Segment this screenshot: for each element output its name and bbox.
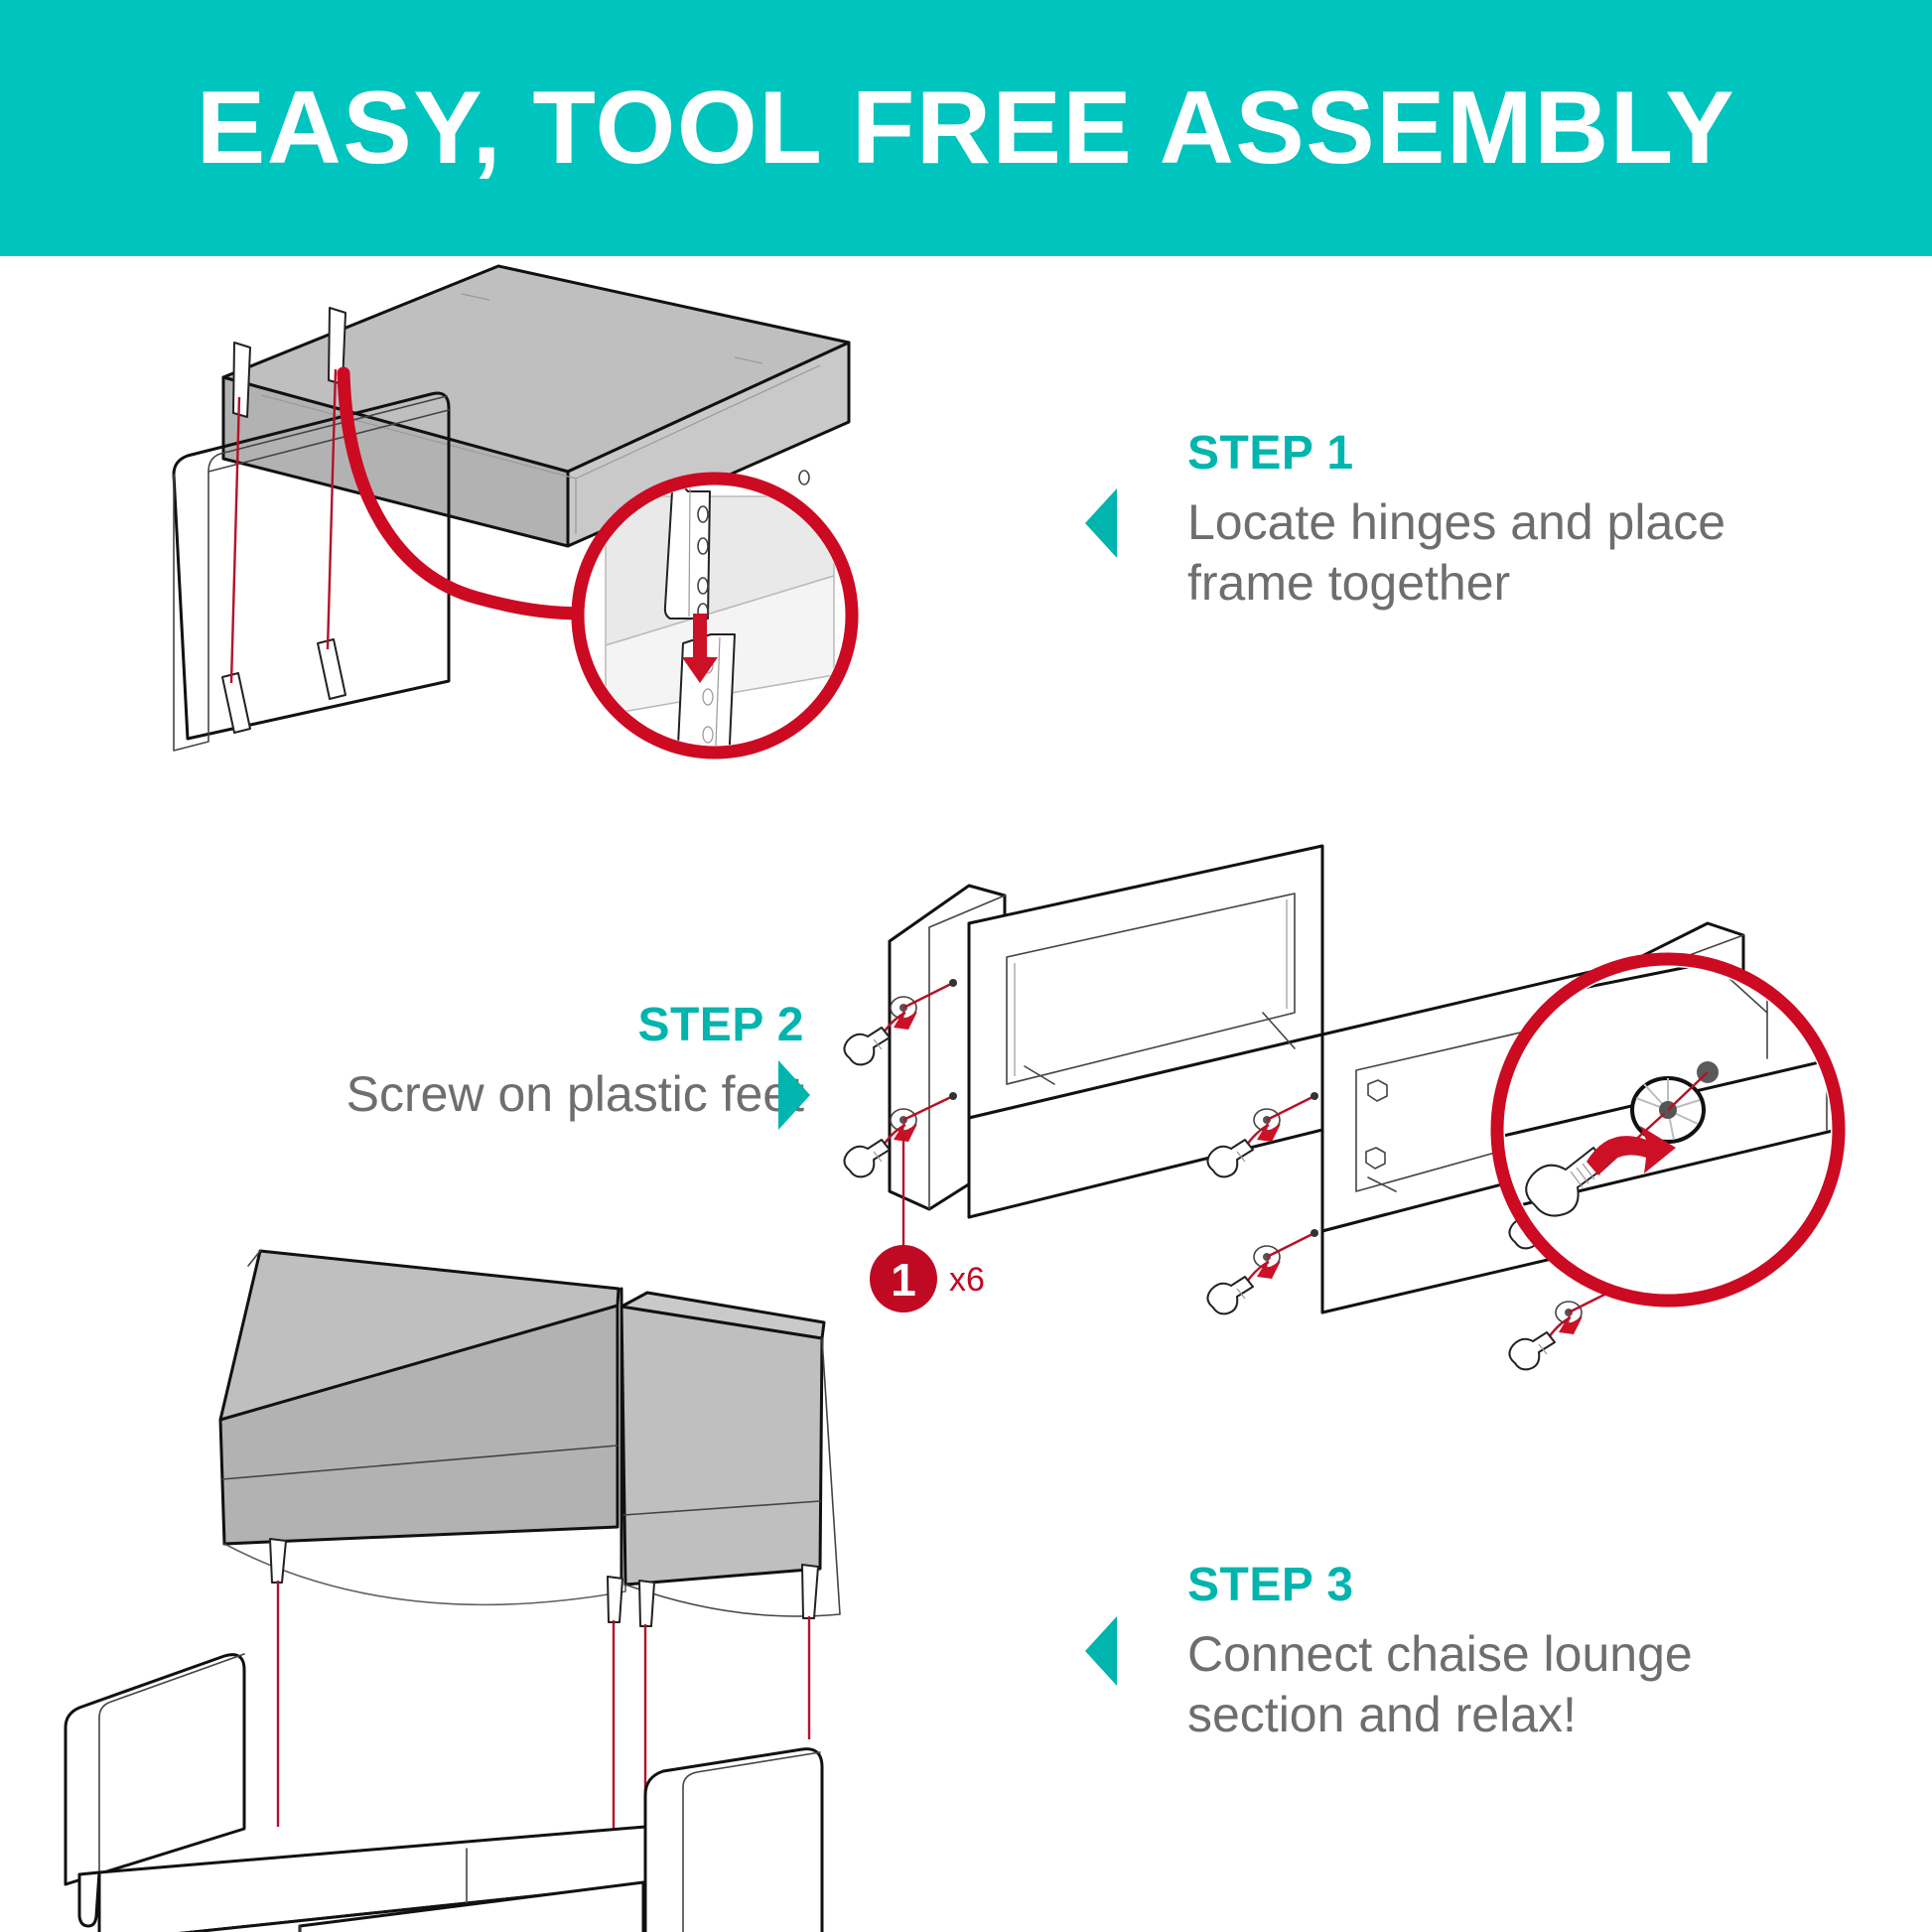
- sofa-left-arm: [66, 1654, 244, 1894]
- infographic-page: EASY, TOOL FREE ASSEMBLY: [0, 0, 1932, 1932]
- step3-illustration: [40, 1231, 953, 1906]
- step2-illustration: 1 x6: [874, 864, 1886, 1420]
- step1-body-line1: Locate hinges and place: [1187, 492, 1882, 553]
- backrest-cushion-left: [220, 1251, 619, 1544]
- frame-rail-left-section: [969, 846, 1322, 1217]
- step3-diagram: [40, 1231, 953, 1906]
- step1-heading: STEP 1: [1187, 429, 1882, 479]
- backrest-cushion-right: [621, 1289, 824, 1585]
- step3-body-line2: section and relax!: [1187, 1685, 1902, 1745]
- hinge-bracket-lower-left: [222, 673, 250, 733]
- step1-arrow-left-icon: [1085, 488, 1119, 558]
- hinge-bracket-upper-left: [233, 343, 250, 417]
- sofa-right-arm: [645, 1749, 822, 1932]
- step1-text-block: STEP 1 Locate hinges and place frame tog…: [1187, 429, 1882, 614]
- hinge-bracket-lower-right: [318, 639, 345, 699]
- step3-text-block: STEP 3 Connect chaise lounge section and…: [1187, 1561, 1902, 1745]
- step2-arrow-right-icon: [776, 1060, 810, 1130]
- step3-heading: STEP 3: [1187, 1561, 1902, 1610]
- detail-magnifier-circle-step1: [578, 479, 852, 771]
- step1-illustration: [149, 248, 1062, 715]
- step1-body-line2: frame together: [1187, 553, 1882, 614]
- step3-body-line1: Connect chaise lounge: [1187, 1624, 1902, 1685]
- step2-heading: STEP 2: [119, 1001, 804, 1050]
- badge-quantity: x6: [949, 1261, 985, 1299]
- step1-diagram: [149, 248, 1062, 715]
- step2-text-block: STEP 2 Screw on plastic feet: [119, 1001, 804, 1125]
- page-title: EASY, TOOL FREE ASSEMBLY: [197, 76, 1735, 180]
- step2-body-line1: Screw on plastic feet: [119, 1064, 804, 1125]
- header-banner: EASY, TOOL FREE ASSEMBLY: [0, 0, 1932, 256]
- step2-diagram: 1 x6: [874, 864, 1886, 1420]
- step3-arrow-left-icon: [1085, 1616, 1119, 1686]
